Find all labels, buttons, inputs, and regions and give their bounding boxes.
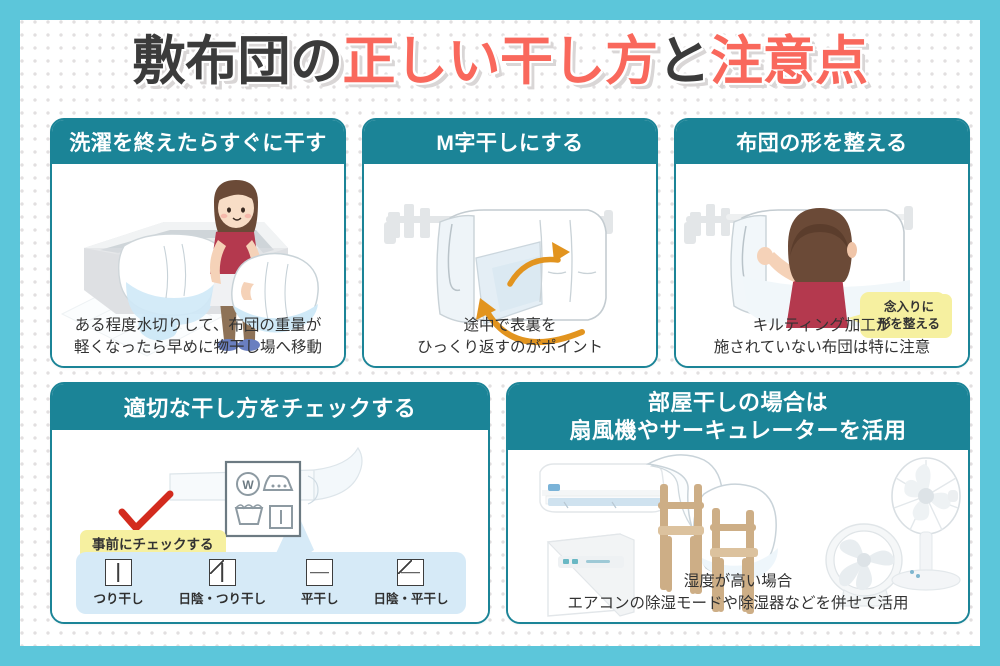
- title-part-4: 注意点: [710, 32, 868, 91]
- card1-body: ある程度水切りして、布団の重量が 軽くなったら早めに物干し場へ移動: [52, 164, 344, 366]
- card5-heading: 部屋干しの場合は 扇風機やサーキュレーターを活用: [508, 384, 968, 450]
- title-part-2: 正しい干し方: [343, 32, 658, 91]
- symbol-shade-hang-dry: 日陰・つり干し: [178, 559, 266, 607]
- card2-caption: 途中で表裏を ひっくり返すのがポイント: [364, 315, 656, 358]
- card3-caption: キルティング加工が 施されていない布団は特に注意: [676, 315, 968, 358]
- card-m-shape-drying: M字干しにする: [362, 118, 658, 368]
- symbol-label-2: 平干し: [301, 588, 339, 607]
- card2-caption-line2: ひっくり返すのがポイント: [364, 337, 656, 358]
- card5-caption-line2: エアコンの除湿モードや除湿器などを併せて活用: [508, 593, 968, 614]
- card4-body: W: [52, 430, 488, 622]
- symbol-shade-flat-dry: 日陰・平干し: [373, 559, 448, 607]
- title-part-3: と: [658, 32, 711, 91]
- symbol-label-3: 日陰・平干し: [373, 588, 448, 607]
- card2-caption-line1: 途中で表裏を: [364, 315, 656, 336]
- card-check-drying-method: 適切な干し方をチェックする W: [50, 382, 490, 624]
- shade-hang-dry-icon: [209, 559, 236, 586]
- card2-heading: M字干しにする: [364, 120, 656, 164]
- page-title: 敷布団の正しい干し方と注意点: [20, 34, 980, 90]
- laundry-symbol-strip: つり干し 日陰・つり干し 平干し 日陰・平干し: [76, 552, 466, 614]
- symbol-flat-dry: 平干し: [301, 559, 339, 607]
- card5-body: 湿度が高い場合 エアコンの除湿モードや除湿器などを併せて活用: [508, 450, 968, 622]
- card1-heading: 洗濯を終えたらすぐに干す: [52, 120, 344, 164]
- infographic-canvas: 敷布団の正しい干し方と注意点 洗濯を終えたらすぐに干す: [20, 20, 980, 646]
- card-indoor-drying-fans: 部屋干しの場合は 扇風機やサーキュレーターを活用: [506, 382, 970, 624]
- card1-caption-line2: 軽くなったら早めに物干し場へ移動: [52, 337, 344, 358]
- badge-line1: 念入りに: [884, 300, 934, 314]
- symbol-label-1: 日陰・つり干し: [178, 588, 266, 607]
- card-shape-the-futon: 布団の形を整える: [674, 118, 970, 368]
- card-wash-then-dry: 洗濯を終えたらすぐに干す: [50, 118, 346, 368]
- card1-caption-line1: ある程度水切りして、布団の重量が: [52, 315, 344, 336]
- symbol-hang-dry: つり干し: [93, 559, 143, 607]
- shade-flat-dry-icon: [397, 559, 424, 586]
- card3-heading: 布団の形を整える: [676, 120, 968, 164]
- card3-body: 念入りに 形を整える キルティング加工が 施されていない布団は特に注意: [676, 164, 968, 366]
- svg-text:W: W: [242, 478, 254, 492]
- card3-caption-line2: 施されていない布団は特に注意: [676, 337, 968, 358]
- hang-dry-icon: [105, 559, 132, 586]
- card5-heading-line1: 部屋干しの場合は: [648, 389, 828, 417]
- infographic-root: 敷布団の正しい干し方と注意点 洗濯を終えたらすぐに干す: [0, 0, 1000, 666]
- card5-caption-line1: 湿度が高い場合: [508, 571, 968, 592]
- flat-dry-icon: [306, 559, 333, 586]
- card2-body: 途中で表裏を ひっくり返すのがポイント: [364, 164, 656, 366]
- symbol-label-0: つり干し: [93, 588, 143, 607]
- card4-heading: 適切な干し方をチェックする: [52, 384, 488, 430]
- card3-caption-line1: キルティング加工が: [676, 315, 968, 336]
- title-part-1: 敷布団の: [133, 32, 343, 91]
- card1-caption: ある程度水切りして、布団の重量が 軽くなったら早めに物干し場へ移動: [52, 315, 344, 358]
- card5-heading-line2: 扇風機やサーキュレーターを活用: [569, 417, 906, 445]
- card5-caption: 湿度が高い場合 エアコンの除湿モードや除湿器などを併せて活用: [508, 571, 968, 614]
